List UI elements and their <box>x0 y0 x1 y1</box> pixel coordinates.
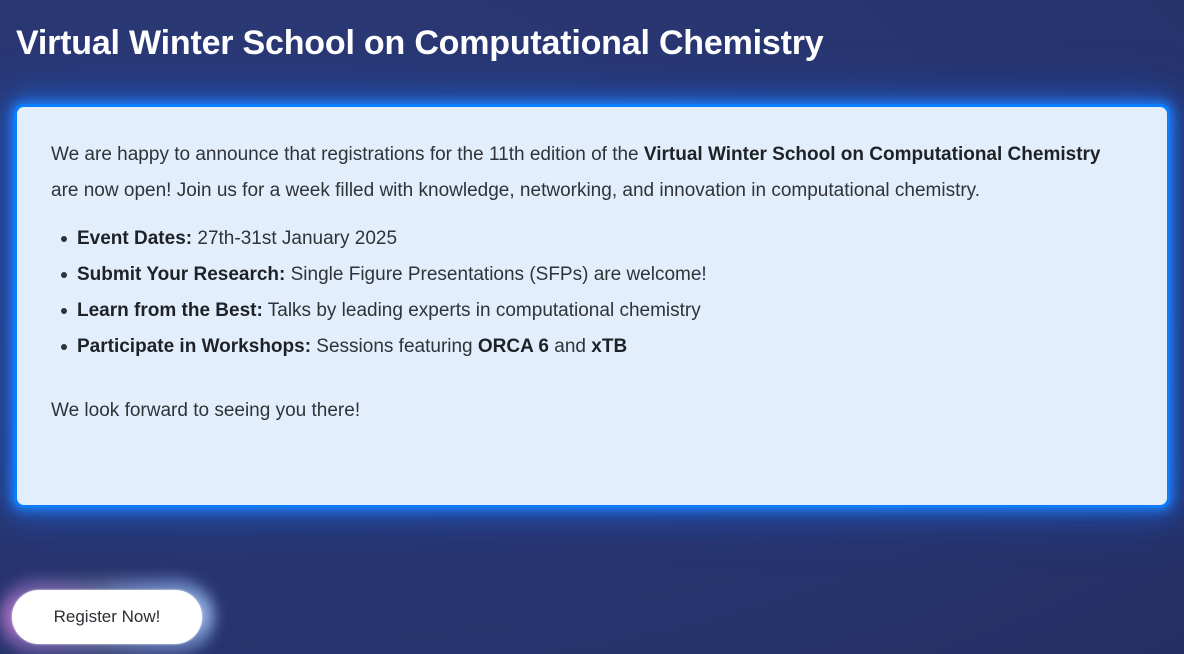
register-now-button[interactable]: Register Now! <box>12 590 202 644</box>
page-header: Virtual Winter School on Computational C… <box>0 0 1184 86</box>
intro-emphasis: Virtual Winter School on Computational C… <box>644 144 1101 165</box>
announcement-card: We are happy to announce that registrati… <box>14 104 1170 508</box>
list-item-strong-xtb: xTB <box>591 336 627 357</box>
list-item: Submit Your Research: Single Figure Pres… <box>77 257 1133 293</box>
announcement-card-wrapper: We are happy to announce that registrati… <box>14 104 1170 508</box>
list-item-text: Single Figure Presentations (SFPs) are w… <box>285 264 706 285</box>
intro-text-part1: We are happy to announce that registrati… <box>51 144 644 165</box>
highlight-list: Event Dates: 27th-31st January 2025 Subm… <box>51 221 1133 365</box>
intro-paragraph: We are happy to announce that registrati… <box>51 137 1111 209</box>
list-item-label: Event Dates: <box>77 228 192 249</box>
list-item-label: Learn from the Best: <box>77 300 263 321</box>
page-title: Virtual Winter School on Computational C… <box>0 23 823 63</box>
list-item-text: Talks by leading experts in computationa… <box>263 300 701 321</box>
list-item-text: 27th-31st January 2025 <box>192 228 397 249</box>
list-item: Participate in Workshops: Sessions featu… <box>77 329 1133 365</box>
closing-paragraph: We look forward to seeing you there! <box>51 393 1133 429</box>
list-item-strong-orca: ORCA 6 <box>478 336 549 357</box>
list-item: Event Dates: 27th-31st January 2025 <box>77 221 1133 257</box>
page-root: Virtual Winter School on Computational C… <box>0 0 1184 654</box>
list-item-label: Submit Your Research: <box>77 264 285 285</box>
register-button-area: Register Now! <box>12 590 202 644</box>
intro-text-part2: are now open! Join us for a week filled … <box>51 180 980 201</box>
list-item-text: Sessions featuring <box>311 336 478 357</box>
list-item-label: Participate in Workshops: <box>77 336 311 357</box>
list-item-text-after: and <box>549 336 591 357</box>
list-item: Learn from the Best: Talks by leading ex… <box>77 293 1133 329</box>
announcement-card-body: We are happy to announce that registrati… <box>51 137 1133 429</box>
